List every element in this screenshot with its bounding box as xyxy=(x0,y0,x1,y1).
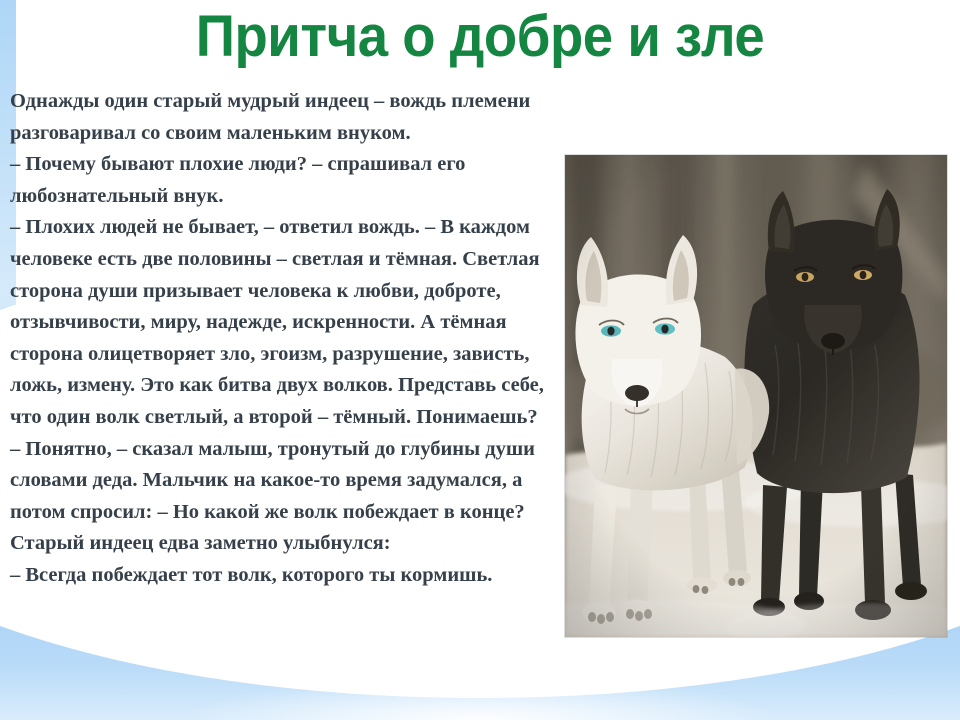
slide-body-text: Однажды один старый мудрый индеец – вожд… xyxy=(10,86,570,592)
two-wolves-photo xyxy=(565,155,947,637)
paragraph: – Всегда побеждает тот волк, которого ты… xyxy=(10,560,570,592)
paragraph: – Понятно, – сказал малыш, тронутый до г… xyxy=(10,434,570,529)
paragraph: Однажды один старый мудрый индеец – вожд… xyxy=(10,86,570,149)
slide-canvas: Притча о добре и зле Однажды один старый… xyxy=(0,0,960,720)
paragraph: Старый индеец едва заметно улыбнулся: xyxy=(10,528,570,560)
paragraph: – Почему бывают плохие люди? – спрашивал… xyxy=(10,149,570,212)
bottom-glow xyxy=(0,674,960,720)
paragraph: – Плохих людей не бывает, – ответил вожд… xyxy=(10,212,570,433)
slide-title: Притча о добре и зле xyxy=(29,6,931,68)
